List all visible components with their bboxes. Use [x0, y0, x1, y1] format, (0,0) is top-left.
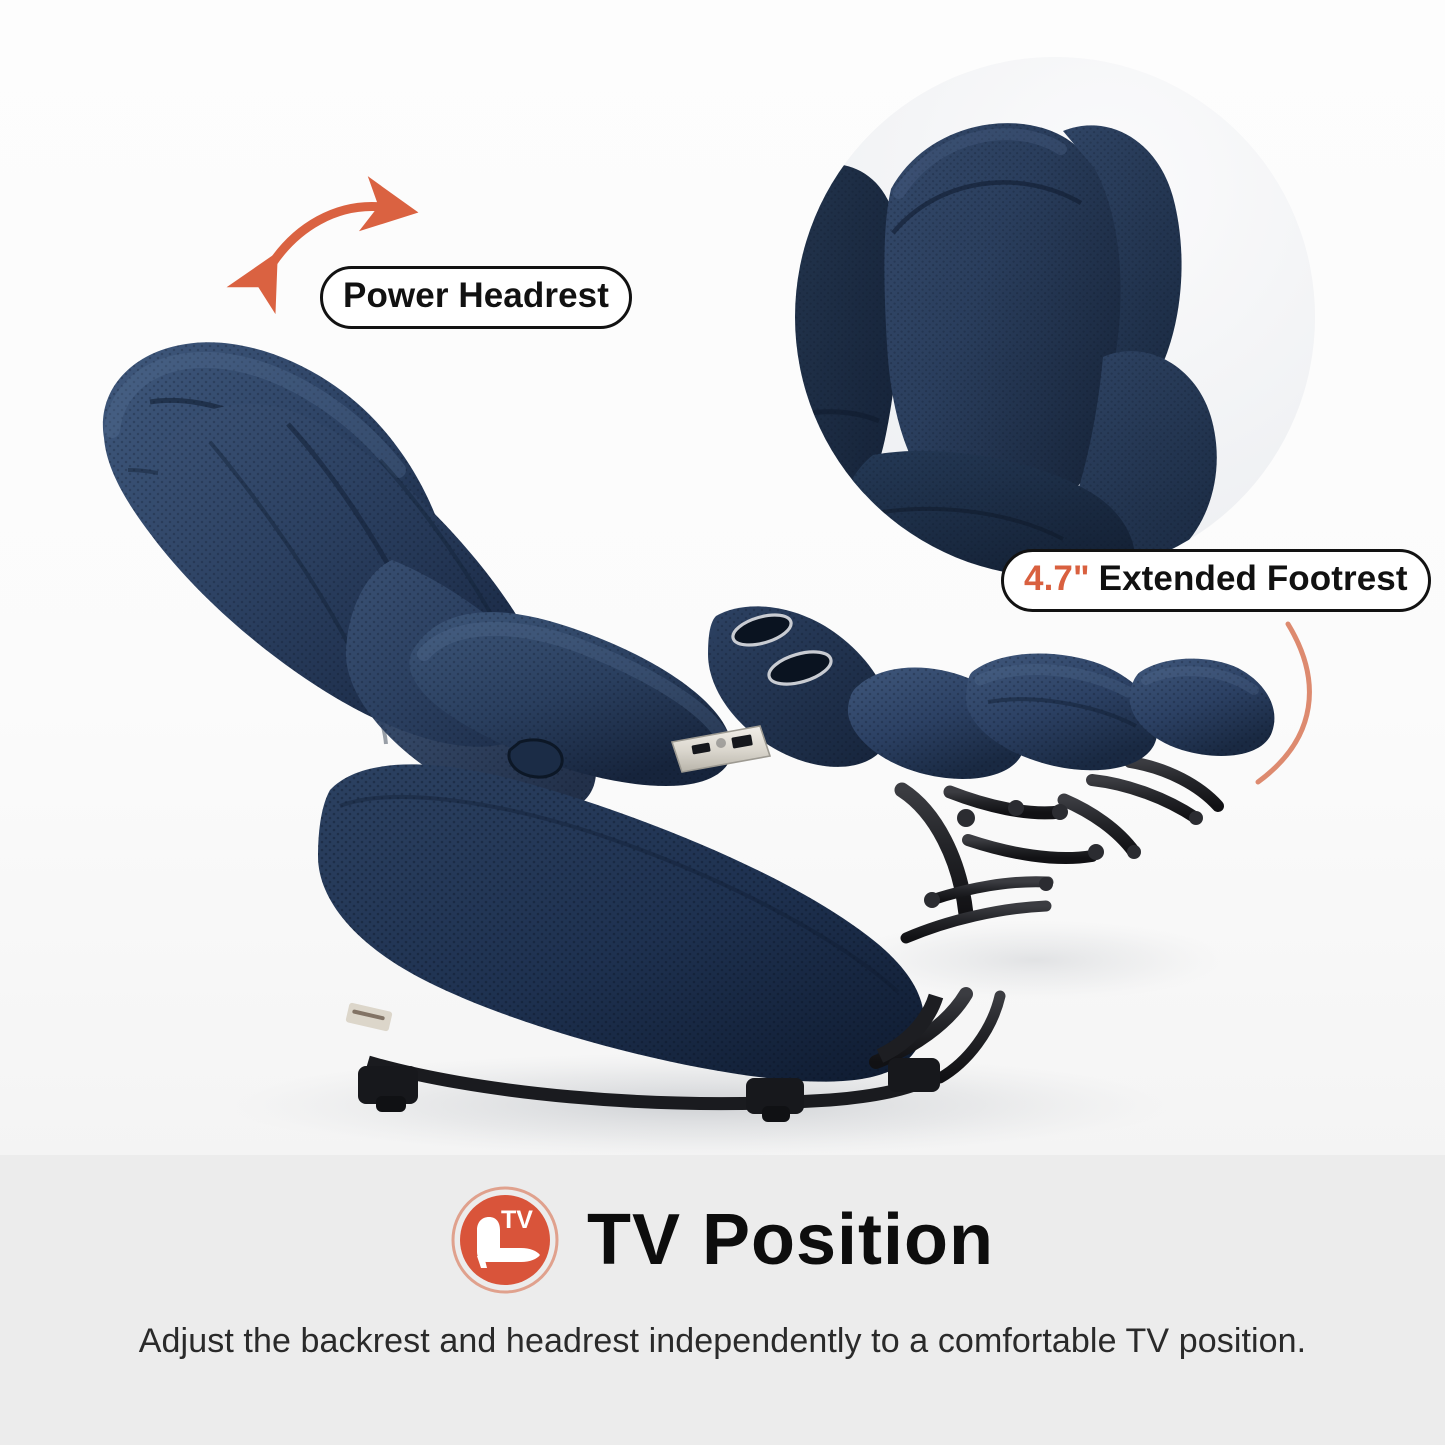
tv-position-heading-row: TV TV Position: [0, 1186, 1445, 1294]
reclining-mechanism: [876, 762, 1218, 1078]
chair-side-panel: [318, 764, 924, 1081]
product-feature-graphic: Power Headrest 4.7" Extended Footrest TV…: [0, 0, 1445, 1445]
chair-foot-side: [888, 1058, 940, 1092]
tv-position-title: TV Position: [587, 1204, 994, 1276]
chair-footrest: [848, 654, 1275, 779]
extended-footrest-label-text: Extended Footrest: [1099, 559, 1408, 599]
tv-position-icon: TV: [451, 1186, 559, 1294]
extended-footrest-label: 4.7" Extended Footrest: [1001, 549, 1431, 612]
tv-icon-text: TV: [501, 1206, 533, 1234]
inset-artwork: [795, 57, 1315, 577]
power-headrest-label-text: Power Headrest: [343, 276, 609, 316]
brand-tag: [345, 1002, 392, 1031]
footrest-measurement: 4.7": [1024, 559, 1090, 599]
power-headrest-label: Power Headrest: [320, 266, 632, 329]
tv-position-caption: Adjust the backrest and headrest indepen…: [0, 1322, 1445, 1361]
headrest-closeup-inset: [795, 57, 1315, 577]
